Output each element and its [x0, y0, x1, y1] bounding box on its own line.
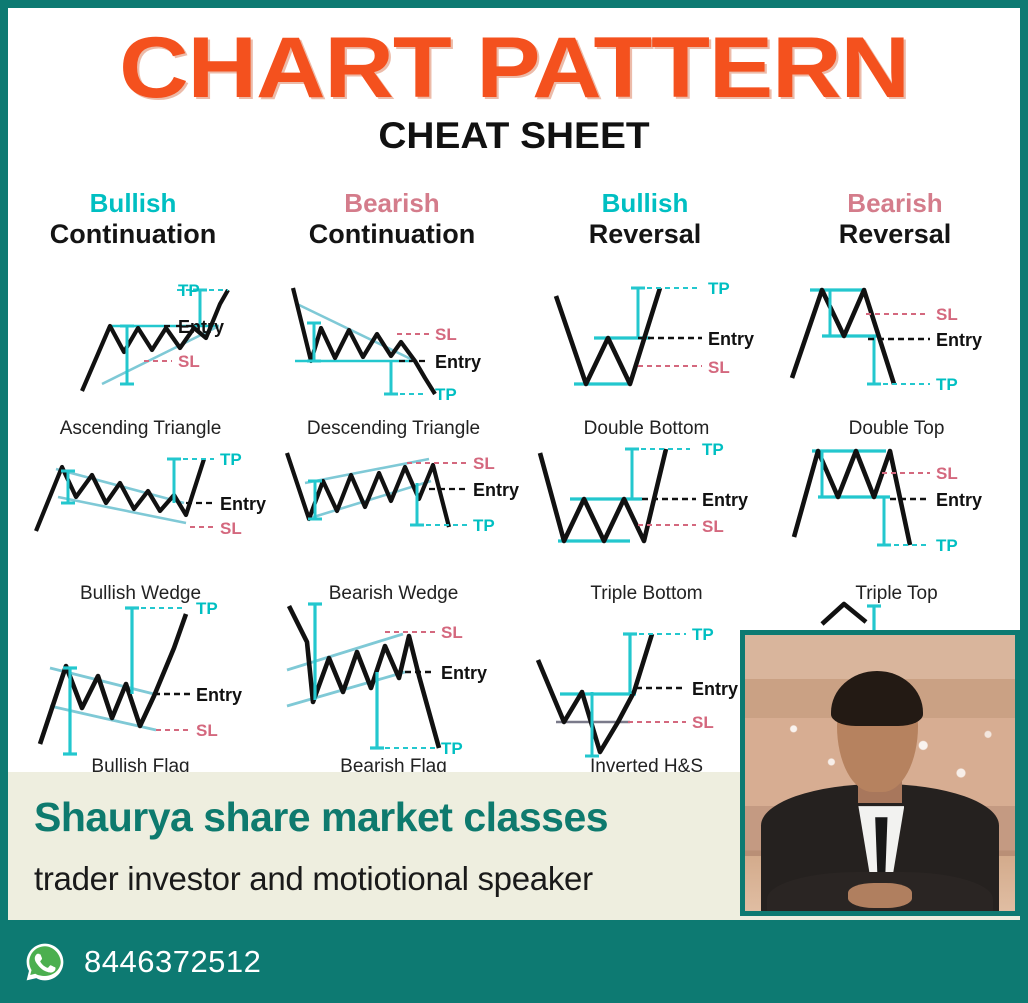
pattern-card-triple-bottom[interactable]: TP Entry SL Triple Bottom [520, 431, 773, 607]
tp-label: TP [936, 536, 958, 555]
sl-label: SL [220, 519, 242, 538]
column-heading-bearish-reversal: Bearish Reversal [770, 188, 1020, 250]
tp-label: TP [702, 440, 724, 459]
ascending-triangle-diagram: TP Entry SL [14, 266, 267, 442]
pattern-card-triple-top[interactable]: SL Entry TP Triple Top [770, 431, 1020, 607]
tp-label: TP [220, 450, 242, 469]
portrait-photo [740, 630, 1020, 916]
triple-top-diagram: SL Entry TP [770, 431, 1020, 607]
entry-label: Entry [708, 329, 754, 349]
sl-label: SL [441, 623, 463, 642]
business-tagline: trader investor and motiotional speaker [34, 860, 593, 898]
entry-label: Entry [936, 490, 982, 510]
sl-label: SL [936, 305, 958, 324]
column-kind-label: Bearish [770, 188, 1020, 218]
pattern-card-descending-triangle[interactable]: SL Entry TP Descending Triangle [267, 266, 520, 442]
entry-label: Entry [936, 330, 982, 350]
bullish-flag-diagram: TP Entry SL [14, 596, 267, 772]
sl-label: SL [178, 352, 200, 371]
entry-label: Entry [692, 679, 738, 699]
page-subtitle: CHEAT SHEET [8, 116, 1020, 156]
sl-label: SL [936, 464, 958, 483]
pattern-card-ascending-triangle[interactable]: TP Entry SL Ascending Triangle [14, 266, 267, 442]
business-name: Shaurya share market classes [34, 794, 608, 841]
page-title: CHART PATTERN [8, 22, 1020, 114]
sl-label: SL [435, 325, 457, 344]
bearish-wedge-diagram: SL Entry TP [267, 431, 520, 607]
poster-root: CHART PATTERN CHEAT SHEET Bullish Contin… [0, 0, 1028, 1003]
bearish-flag-diagram: SL Entry TP [267, 596, 520, 772]
column-heading-bearish-continuation: Bearish Continuation [267, 188, 517, 250]
entry-label: Entry [196, 685, 242, 705]
pattern-card-inverted-head-and-shoulders[interactable]: TP Entry SL Inverted H&S [520, 596, 773, 772]
tp-label: TP [178, 281, 200, 300]
photo-hands [848, 883, 913, 908]
column-heading-bullish-reversal: Bullish Reversal [520, 188, 770, 250]
descending-triangle-diagram: SL Entry TP [267, 266, 520, 442]
entry-label: Entry [441, 663, 487, 683]
phone-number[interactable]: 8446372512 [84, 944, 261, 980]
pattern-card-double-top[interactable]: SL Entry TP Double Top [770, 266, 1020, 442]
tp-label: TP [692, 625, 714, 644]
whatsapp-icon[interactable] [24, 941, 66, 983]
entry-label: Entry [435, 352, 481, 372]
sl-label: SL [692, 713, 714, 732]
tp-label: TP [708, 279, 730, 298]
column-type-label: Reversal [520, 218, 770, 250]
pattern-card-bearish-flag[interactable]: SL Entry TP Bearish Flag [267, 596, 520, 772]
double-bottom-diagram: TP Entry SL [520, 266, 773, 442]
column-type-label: Continuation [267, 218, 517, 250]
column-type-label: Reversal [770, 218, 1020, 250]
tp-label: TP [936, 375, 958, 394]
tp-label: TP [473, 516, 495, 535]
inverted-head-and-shoulders-diagram: TP Entry SL [520, 596, 773, 772]
column-kind-label: Bullish [8, 188, 258, 218]
poster-header: CHART PATTERN CHEAT SHEET [8, 8, 1020, 178]
column-heading-bullish-continuation: Bullish Continuation [8, 188, 258, 250]
sl-label: SL [702, 517, 724, 536]
entry-label: Entry [178, 317, 224, 337]
contact-footer: 8446372512 [0, 920, 1028, 1003]
entry-label: Entry [473, 480, 519, 500]
pattern-card-bullish-flag[interactable]: TP Entry SL Bullish Flag [14, 596, 267, 772]
sl-label: SL [708, 358, 730, 377]
entry-label: Entry [220, 494, 266, 514]
column-type-label: Continuation [8, 218, 258, 250]
sl-label: SL [473, 454, 495, 473]
double-top-diagram: SL Entry TP [770, 266, 1020, 442]
sl-label: SL [196, 721, 218, 740]
column-headings: Bullish Continuation Bearish Continuatio… [8, 188, 1020, 264]
column-kind-label: Bullish [520, 188, 770, 218]
entry-label: Entry [702, 490, 748, 510]
tp-label: TP [196, 599, 218, 618]
pattern-card-double-bottom[interactable]: TP Entry SL Double Bottom [520, 266, 773, 442]
pattern-card-bearish-wedge[interactable]: SL Entry TP Bearish Wedge [267, 431, 520, 607]
bullish-wedge-diagram: TP Entry SL [14, 431, 267, 607]
tp-label: TP [435, 385, 457, 404]
triple-bottom-diagram: TP Entry SL [520, 431, 773, 607]
column-kind-label: Bearish [267, 188, 517, 218]
pattern-card-bullish-wedge[interactable]: TP Entry SL Bullish Wedge [14, 431, 267, 607]
